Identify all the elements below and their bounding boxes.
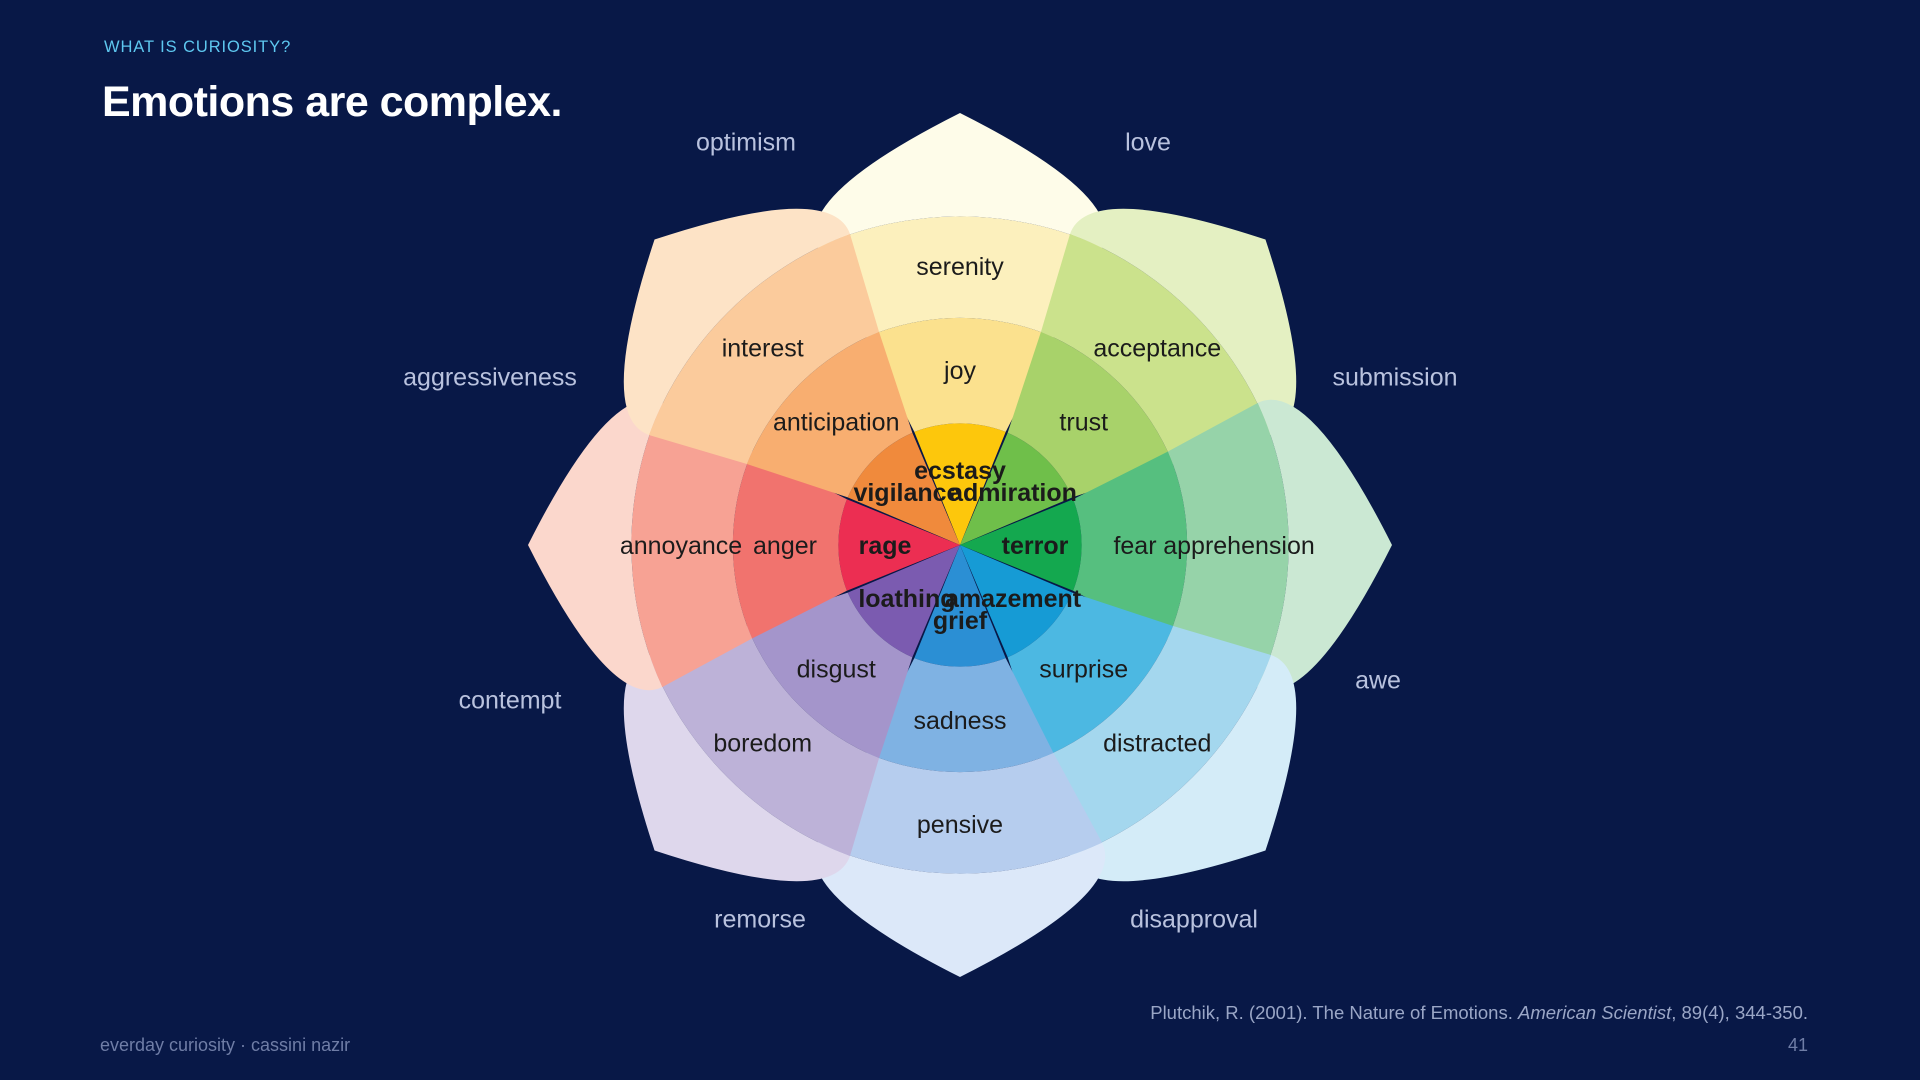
dyad-label-optimism: optimism <box>696 129 796 158</box>
dyad-label-remorse: remorse <box>714 906 806 935</box>
petal-joy <box>815 113 1105 545</box>
emotion-label-admiration: admiration <box>949 479 1077 507</box>
petal-ring-amazement <box>960 545 1072 657</box>
emotion-label-interest: interest <box>722 335 804 363</box>
petal-ring-loathing <box>848 545 960 657</box>
page-number: 41 <box>1788 1035 1808 1056</box>
petal-tip-disgust <box>624 655 850 881</box>
petal-ring-pensive <box>818 753 1102 874</box>
slide-root: WHAT IS CURIOSITY? Emotions are complex.… <box>0 0 1920 1080</box>
emotion-label-serenity: serenity <box>916 253 1004 281</box>
footer-attribution: everday curiosity · cassini nazir <box>100 1035 350 1056</box>
petal-ring-interest <box>649 234 879 464</box>
petal-ring-joy <box>867 318 1054 432</box>
emotion-label-trust: trust <box>1059 408 1108 436</box>
plutchik-wheel: ecstasyjoyserenityadmirationtrustaccepta… <box>0 0 1920 1080</box>
citation-prefix: Plutchik, R. (2001). The Nature of Emoti… <box>1150 1002 1518 1023</box>
petal-ring-surprise <box>1008 593 1173 758</box>
petal-tip-anticipation <box>624 209 850 435</box>
petal-tip-trust <box>1070 209 1296 435</box>
emotion-label-apprehension: apprehension <box>1163 532 1315 560</box>
dyad-label-awe: awe <box>1355 667 1401 696</box>
slide-eyebrow: WHAT IS CURIOSITY? <box>104 38 291 57</box>
dyad-label-disapproval: disapproval <box>1130 906 1258 935</box>
emotion-label-acceptance: acceptance <box>1093 335 1221 363</box>
dyad-label-contempt: contempt <box>459 687 562 716</box>
citation-suffix: , 89(4), 344-350. <box>1671 1002 1808 1023</box>
emotion-label-surprise: surprise <box>1039 656 1128 684</box>
emotion-label-anger: anger <box>753 532 817 560</box>
petal-fear <box>960 400 1392 690</box>
dyad-label-aggressiveness: aggressiveness <box>403 364 577 393</box>
emotion-label-rage: rage <box>859 532 912 560</box>
emotion-label-amazement: amazement <box>945 585 1082 613</box>
petal-trust <box>960 209 1296 545</box>
petal-label-layer: ecstasyjoyserenityadmirationtrustaccepta… <box>620 253 1315 839</box>
petal-ring-apprehension <box>1168 403 1289 687</box>
emotion-label-vigilance: vigilance <box>853 479 960 507</box>
emotion-label-ecstasy: ecstasy <box>914 457 1006 485</box>
petal-ring-grief <box>914 545 1005 667</box>
emotion-label-terror: terror <box>1002 532 1069 560</box>
emotion-label-boredom: boredom <box>713 729 812 757</box>
petal-anticipation <box>624 209 960 545</box>
emotion-label-distracted: distracted <box>1103 729 1211 757</box>
petal-ring-anger <box>733 452 847 639</box>
petal-tip-joy <box>815 113 1105 247</box>
citation: Plutchik, R. (2001). The Nature of Emoti… <box>1150 1002 1808 1024</box>
dyad-label-submission: submission <box>1332 364 1457 393</box>
petal-ring-acceptance <box>1041 234 1271 464</box>
petal-ring-vigilance <box>848 433 960 545</box>
petal-ring-ecstasy <box>914 423 1005 545</box>
petal-tip-sadness <box>815 843 1105 977</box>
petal-ring-admiration <box>960 433 1072 545</box>
emotion-label-fear: fear <box>1113 532 1156 560</box>
emotion-label-grief: grief <box>933 607 988 635</box>
petal-tip-fear <box>1258 400 1392 690</box>
petal-ring-boredom <box>649 626 879 856</box>
petal-ring-sadness <box>867 658 1054 772</box>
petal-disgust <box>624 545 960 881</box>
petal-anger <box>528 400 960 690</box>
petal-ring-fear <box>1073 452 1187 639</box>
petal-ring-terror <box>960 499 1082 590</box>
petal-ring-annoyance <box>631 403 752 687</box>
dyad-label-love: love <box>1125 129 1171 158</box>
emotion-label-annoyance: annoyance <box>620 532 742 560</box>
petal-ring-anticipation <box>747 332 912 497</box>
petal-ring-disgust <box>747 593 912 758</box>
petal-tip-surprise <box>1070 655 1296 881</box>
emotion-label-loathing: loathing <box>858 585 955 613</box>
page-title: Emotions are complex. <box>102 78 562 127</box>
petal-tip-anger <box>528 400 662 690</box>
emotion-label-joy: joy <box>943 357 976 385</box>
petal-ring-rage <box>838 499 960 590</box>
emotion-label-sadness: sadness <box>913 707 1006 735</box>
emotion-label-disgust: disgust <box>797 656 876 684</box>
petal-surprise <box>960 545 1296 881</box>
petal-ring-serenity <box>818 216 1102 337</box>
emotion-label-pensive: pensive <box>917 811 1003 839</box>
petal-sadness <box>815 545 1105 977</box>
petal-layer <box>528 113 1392 977</box>
petal-ring-trust <box>1008 332 1173 497</box>
wheel-svg: ecstasyjoyserenityadmirationtrustaccepta… <box>0 0 1920 1080</box>
citation-journal: American Scientist <box>1518 1002 1671 1023</box>
emotion-label-anticipation: anticipation <box>773 408 899 436</box>
petal-ring-distracted <box>1041 626 1271 856</box>
